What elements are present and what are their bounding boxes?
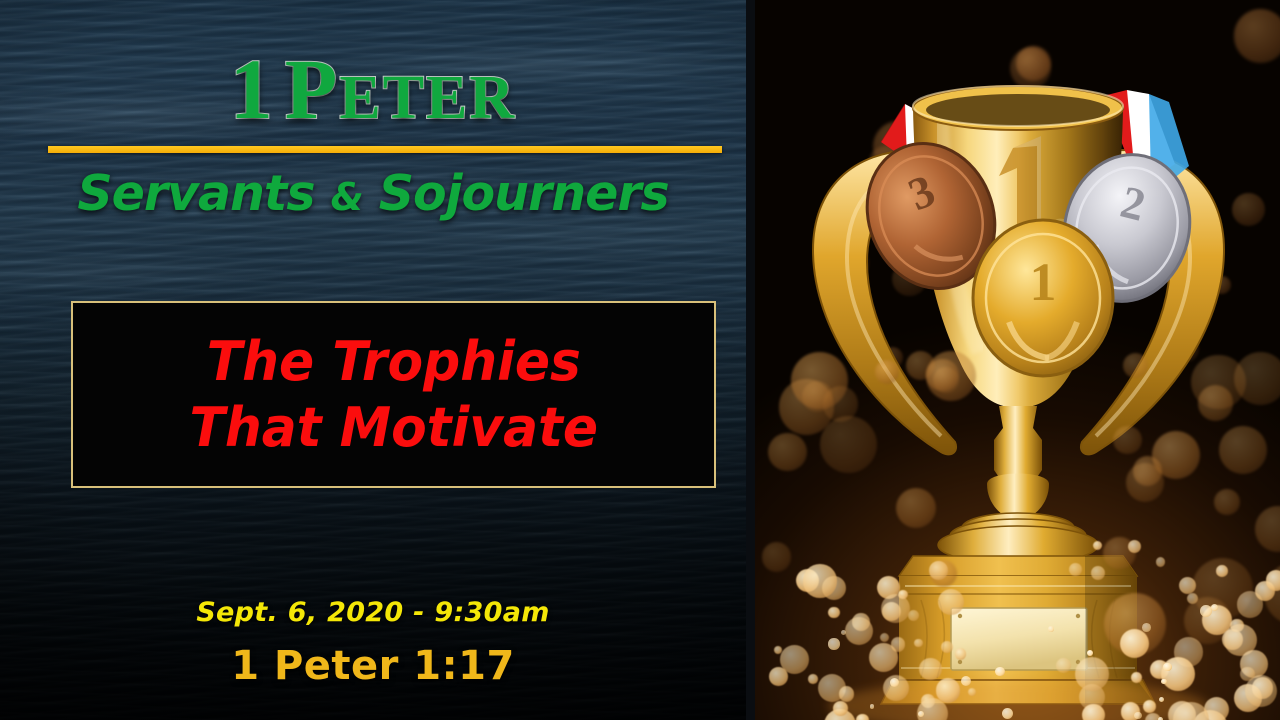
series-subtitle-first: Servants — [77, 165, 330, 222]
series-subtitle-second: Sojourners — [363, 165, 669, 222]
scripture-reference: 1 Peter 1:17 — [0, 643, 746, 689]
series-book-title: 1PETER — [0, 46, 746, 132]
series-book-initial: P — [285, 41, 340, 137]
sermon-title-slide: 1PETER Servants & Sojourners The Trophie… — [0, 0, 1280, 720]
engraving-plate — [951, 608, 1087, 670]
service-datetime: Sept. 6, 2020 - 9:30am — [0, 597, 746, 628]
trophy-stem — [938, 406, 1098, 564]
trophy-icon: 3 2 1 — [755, 0, 1280, 720]
series-number: 1 — [230, 41, 275, 137]
ampersand-glyph: & — [331, 175, 363, 219]
medal-icon-gold: 1 — [973, 220, 1113, 376]
panel-divider — [746, 0, 755, 720]
gold-divider-rule — [48, 146, 722, 153]
trophy-photo-panel: 3 2 1 — [755, 0, 1280, 720]
series-book-remainder: ETER — [339, 64, 516, 132]
svg-text:1: 1 — [1030, 252, 1057, 312]
sermon-title-box: The Trophies That Motivate — [71, 301, 716, 488]
series-subtitle: Servants & Sojourners — [0, 168, 746, 219]
sermon-title-line-1: The Trophies — [206, 329, 580, 395]
sermon-title-line-2: That Motivate — [189, 395, 598, 461]
